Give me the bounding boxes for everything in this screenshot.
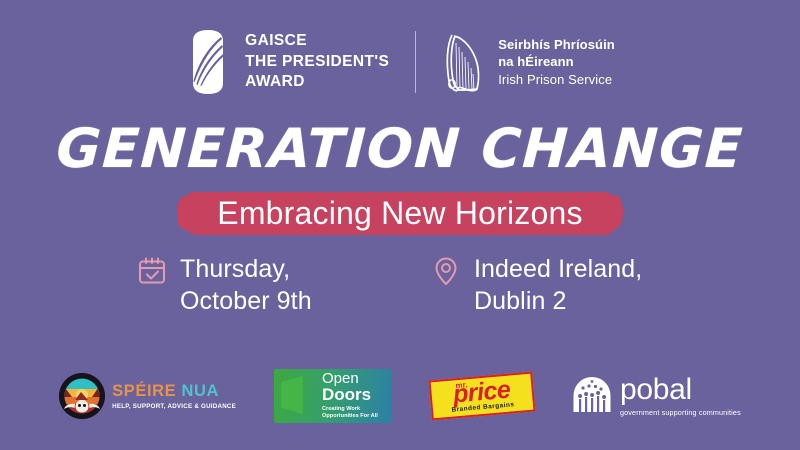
title-block: GENERATION CHANGE Embracing New Horizons (0, 122, 800, 236)
pobal-name: pobal (620, 377, 741, 403)
open-doors-word-2: Doors (322, 386, 392, 404)
sponsor-logos: SPÉIRE NUA HELP, SUPPORT, ADVICE & GUIDA… (0, 360, 800, 432)
open-door-icon (281, 376, 314, 414)
calendar-check-icon (137, 256, 167, 286)
detail-location: Indeed Ireland, Dublin 2 (431, 253, 663, 317)
detail-date-line-2: October 9th (180, 285, 312, 317)
ips-wordmark: Seirbhís Phríosúin na hÉireann Irish Pri… (498, 36, 615, 88)
event-title: GENERATION CHANGE (0, 122, 800, 176)
open-doors-word-1: Open (322, 371, 392, 386)
sponsor-speire-nua: SPÉIRE NUA HELP, SUPPORT, ADVICE & GUIDA… (59, 373, 236, 419)
detail-location-text: Indeed Ireland, Dublin 2 (474, 253, 642, 317)
open-doors-logo: Open Doors Creating Work Opportunities F… (274, 369, 392, 423)
detail-date: Thursday, October 9th (137, 253, 369, 317)
mr-price-logo: mr. price Branded Bargains (428, 372, 535, 421)
event-details: Thursday, October 9th Indeed Ireland, Du… (0, 253, 800, 317)
mr-price-prefix: mr. (455, 381, 468, 390)
open-doors-tagline-2: Opportunities For All (322, 413, 392, 421)
speire-nua-word-2: NUA (181, 382, 219, 400)
header-divider (415, 31, 416, 93)
ips-line-3: Irish Prison Service (498, 71, 615, 88)
speire-nua-word-1: SPÉIRE (112, 382, 176, 400)
speire-nua-wordmark: SPÉIRE NUA HELP, SUPPORT, ADVICE & GUIDA… (112, 383, 236, 410)
ips-line-1: Seirbhís Phríosúin (498, 36, 615, 53)
detail-location-line-2: Dublin 2 (474, 285, 642, 317)
irish-harp-emblem-icon (442, 29, 484, 95)
open-doors-tagline: Creating Work Opportunities For All (322, 406, 392, 421)
open-doors-tagline-1: Creating Work (322, 406, 392, 414)
header-logos: GAISCE THE PRESIDENT'S AWARD (0, 22, 800, 102)
irish-prison-service-logo: Seirbhís Phríosúin na hÉireann Irish Pri… (442, 29, 615, 95)
speire-nua-tagline: HELP, SUPPORT, ADVICE & GUIDANCE (112, 403, 236, 410)
detail-location-line-1: Indeed Ireland, (474, 253, 642, 285)
gaisce-logo: GAISCE THE PRESIDENT'S AWARD (185, 29, 389, 95)
sponsor-open-doors: Open Doors Creating Work Opportunities F… (274, 369, 392, 423)
speire-nua-emblem-icon (59, 373, 105, 419)
sponsor-pobal: pobal government supporting communities (572, 375, 741, 417)
detail-date-text: Thursday, October 9th (180, 253, 312, 317)
event-subtitle: Embracing New Horizons (211, 190, 588, 236)
gaisce-flame-mark-icon (185, 29, 231, 95)
speire-nua-name: SPÉIRE NUA (112, 383, 236, 400)
ips-line-2: na hÉireann (498, 53, 615, 70)
sponsor-mr-price: mr. price Branded Bargains (430, 376, 534, 416)
pobal-wordmark: pobal government supporting communities (620, 377, 741, 417)
gaisce-wordmark: GAISCE THE PRESIDENT'S AWARD (245, 31, 389, 92)
subtitle-banner: Embracing New Horizons (211, 190, 588, 236)
detail-date-line-1: Thursday, (180, 253, 312, 285)
location-pin-icon (431, 256, 461, 286)
gaisce-line-2: THE PRESIDENT'S (245, 52, 389, 72)
pobal-tagline: government supporting communities (620, 408, 741, 417)
gaisce-line-1: GAISCE (245, 31, 389, 51)
gaisce-line-3: AWARD (245, 72, 389, 92)
pobal-dome-icon (572, 375, 612, 415)
